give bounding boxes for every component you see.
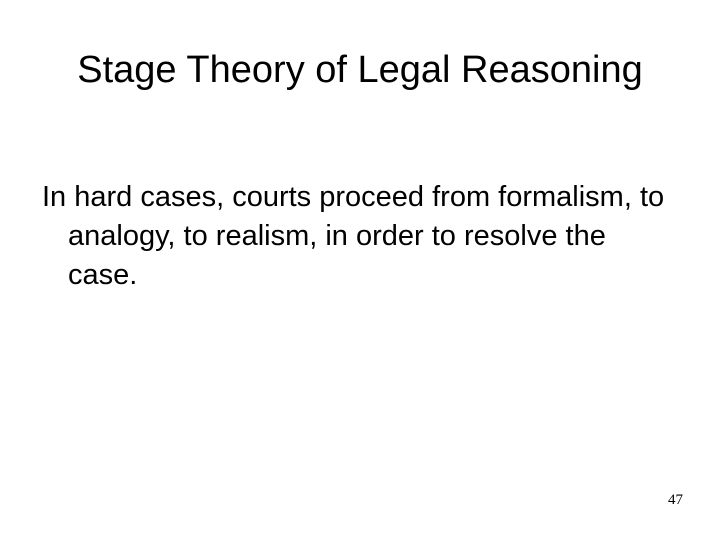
page-title: Stage Theory of Legal Reasoning <box>30 48 690 92</box>
slide: Stage Theory of Legal Reasoning In hard … <box>0 0 720 540</box>
slide-body: In hard cases, courts proceed from forma… <box>42 178 670 295</box>
body-paragraph: In hard cases, courts proceed from forma… <box>42 178 670 295</box>
page-number: 47 <box>668 493 683 508</box>
